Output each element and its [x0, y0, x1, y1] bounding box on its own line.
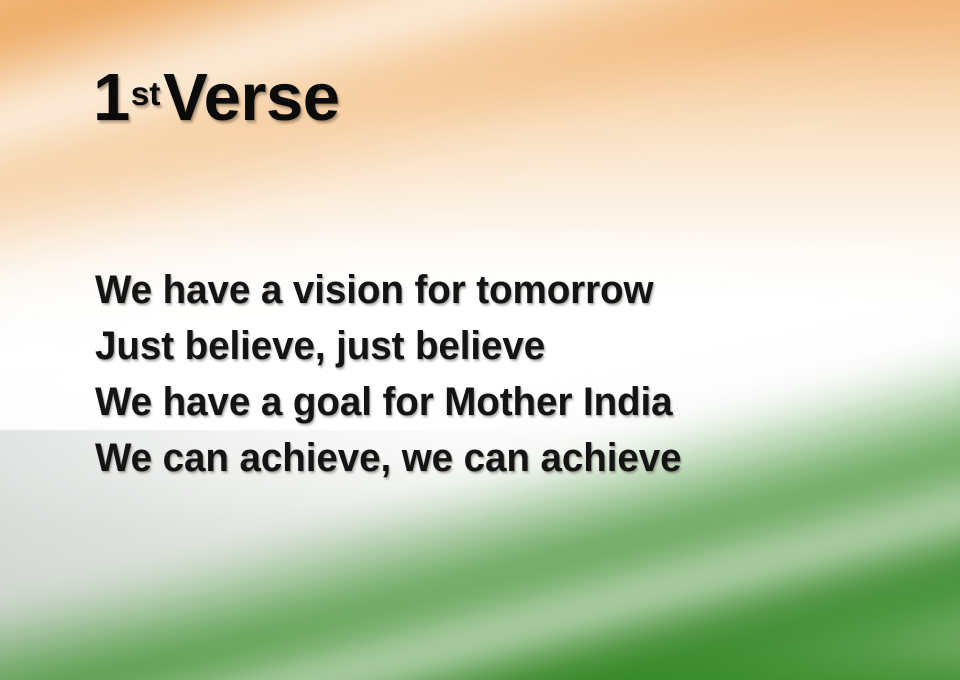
- verse-title-ordinal-suffix: st: [131, 76, 160, 113]
- lyric-line: We can achieve, we can achieve: [95, 430, 681, 486]
- verse-title: 1stVerse: [93, 64, 340, 131]
- slide-content: 1stVerse We have a vision for tomorrow J…: [0, 0, 960, 680]
- lyric-slide: 1stVerse We have a vision for tomorrow J…: [0, 0, 960, 680]
- verse-title-label: Verse: [163, 60, 339, 135]
- lyrics-block: We have a vision for tomorrow Just belie…: [95, 262, 703, 486]
- lyric-line: We have a vision for tomorrow: [95, 262, 681, 318]
- lyric-line: Just believe, just believe: [95, 318, 681, 374]
- verse-title-number: 1: [93, 60, 130, 135]
- lyric-line: We have a goal for Mother India: [95, 374, 681, 430]
